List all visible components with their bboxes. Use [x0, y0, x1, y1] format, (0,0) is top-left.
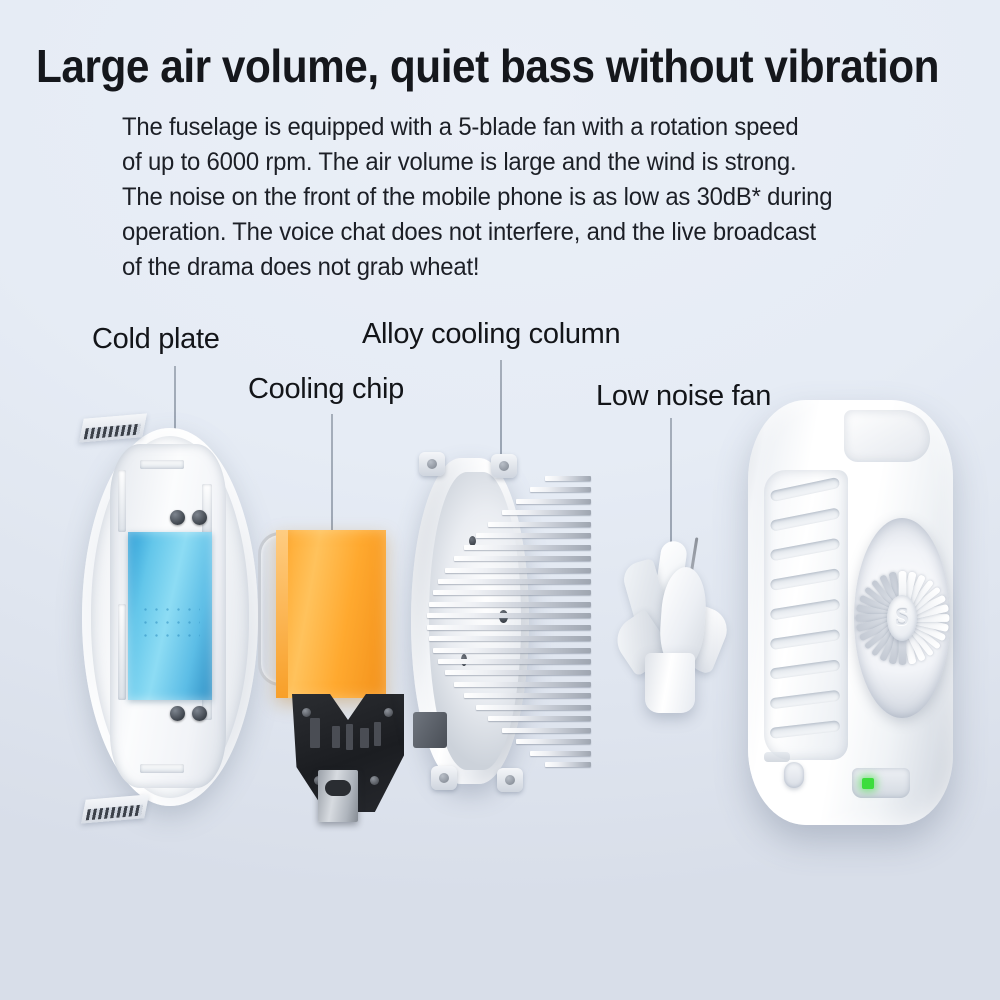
callout-label-low-noise-fan: Low noise fan	[596, 380, 771, 413]
device-side-vent-panel	[764, 470, 848, 760]
screw-top-right	[192, 510, 207, 525]
contact-comb-bottom	[81, 794, 149, 823]
screw-top-left	[170, 510, 185, 525]
device-vent-slot	[770, 598, 841, 620]
alloy-fin	[464, 545, 591, 550]
callout-label-cold-plate: Cold plate	[92, 323, 220, 356]
alloy-fin	[433, 590, 591, 595]
leader-line-alloy-cooling-column	[500, 360, 502, 460]
alloy-mount-tab-bottom-right	[497, 768, 523, 792]
device-vent-slot	[770, 629, 841, 650]
body-line-2: of up to 6000 rpm. The air volume is lar…	[122, 145, 915, 180]
body-line-1: The fuselage is equipped with a 5-blade …	[122, 110, 915, 145]
device-vent-slot	[770, 720, 841, 739]
product-infographic: Large air volume, quiet bass without vib…	[0, 0, 1000, 1000]
device-vent-slot	[770, 568, 841, 591]
alloy-fin	[545, 762, 591, 767]
part-low-noise-fan	[605, 505, 735, 735]
alloy-fin	[438, 579, 591, 584]
alloy-fin	[464, 693, 591, 698]
callout-label-alloy-cooling-column: Alloy cooling column	[362, 318, 620, 351]
alloy-fin	[516, 499, 591, 504]
alloy-fin	[445, 568, 591, 573]
device-vent-slot	[770, 690, 841, 710]
alloy-fin	[488, 522, 591, 527]
device-vent-slot	[770, 659, 841, 679]
callout-label-cooling-chip: Cooling chip	[248, 373, 404, 406]
usb-c-connector	[318, 770, 358, 822]
device-port-recess	[852, 768, 910, 798]
part-cold-plate	[70, 410, 270, 825]
cooling-chip-peltier	[276, 530, 386, 698]
body-line-4: operation. The voice chat does not inter…	[122, 215, 915, 250]
device-side-notch	[764, 752, 790, 762]
alloy-fin	[454, 682, 591, 687]
alloy-fin	[454, 556, 591, 561]
alloy-fin	[530, 751, 591, 756]
alloy-fin	[429, 636, 591, 641]
body-paragraph: The fuselage is equipped with a 5-blade …	[122, 110, 915, 285]
device-vent-slot	[770, 538, 841, 562]
device-top-facet	[844, 410, 930, 462]
device-vent-slot	[770, 507, 841, 532]
device-fan-grille: S	[854, 518, 950, 718]
contact-comb-top	[79, 413, 147, 442]
alloy-fin	[445, 670, 591, 675]
device-vent-slot	[770, 477, 841, 502]
alloy-fin	[516, 739, 591, 744]
alloy-fin	[502, 728, 591, 733]
device-power-button[interactable]	[784, 762, 804, 788]
alloy-fin	[476, 533, 591, 538]
alloy-fin	[545, 476, 591, 481]
alloy-mount-tab-top-left	[419, 452, 445, 476]
body-line-5: of the drama does not grab wheat!	[122, 250, 915, 285]
alloy-fin	[488, 716, 591, 721]
cold-plate-thermal-pad	[128, 532, 212, 700]
alloy-fin	[433, 648, 591, 653]
device-status-led	[862, 778, 874, 789]
page-title: Large air volume, quiet bass without vib…	[36, 40, 892, 92]
part-cooling-chip	[256, 498, 426, 828]
screw-bottom-right	[192, 706, 207, 721]
body-line-3: The noise on the front of the mobile pho…	[122, 180, 915, 215]
alloy-mount-tab-top-right	[491, 454, 517, 478]
fan-hub	[645, 653, 695, 713]
assembled-cooler-device: S	[748, 400, 958, 835]
alloy-fin	[429, 602, 591, 607]
alloy-mount-tab-bottom-left	[431, 766, 457, 790]
alloy-fin	[427, 625, 591, 630]
alloy-fin	[427, 613, 591, 618]
alloy-fin	[530, 487, 591, 492]
part-alloy-cooling-column	[405, 452, 595, 792]
screw-bottom-left	[170, 706, 185, 721]
hub-logo-letter: S	[895, 606, 908, 630]
device-hub-logo: S	[887, 595, 917, 641]
alloy-fin	[476, 705, 591, 710]
alloy-fin	[438, 659, 591, 664]
alloy-column-fins	[425, 476, 591, 768]
alloy-fin	[502, 510, 591, 515]
